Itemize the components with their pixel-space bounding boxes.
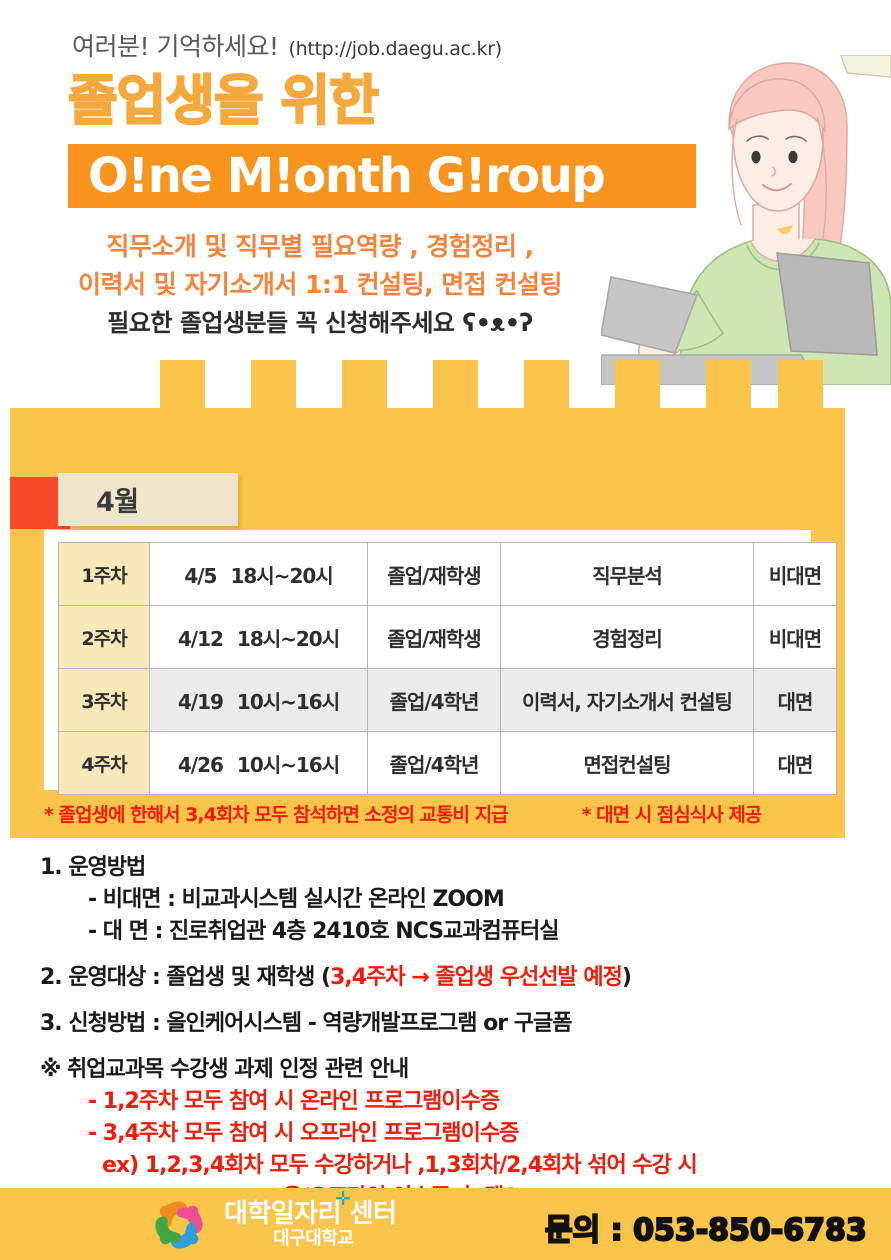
detail-item-2-suffix: ) [622,965,631,990]
cell-time: 18시~20시 [230,564,332,588]
poster-root: 여러분! 기억하세요! (http://job.daegu.ac.kr) 졸업생… [0,0,891,1260]
note-title: ※ 취업교과목 수강생 과제 인정 관련 안내 [40,1054,850,1086]
notebook-tabs-row [68,360,845,410]
site-url[interactable]: (http://job.daegu.ac.kr) [289,38,502,60]
detail-item-2-prefix: 2. 운영대상 : 졸업생 및 재학생 ( [40,965,330,990]
notebook-tab [160,360,205,410]
kicker-text: 여러분! 기억하세요! [72,27,279,63]
logo-center-name-label: 대학일자리 센터 [224,1199,397,1229]
month-tab[interactable]: 4월 [58,473,238,526]
cell-mode: 비대면 [754,606,837,669]
logo-plus-icon: ✛ [335,1190,350,1210]
detail-item-1-sub-2: - 대 면 : 진로취업관 4층 2410호 NCS교과컴퓨터실 [40,916,850,948]
cell-time: 18시~20시 [237,627,339,651]
note-sub-2: - 3,4주차 모두 참여 시 오프라인 프로그램이수증 [40,1118,850,1150]
detail-item-2-highlight: 3,4주차 → 졸업생 우선선발 예정 [330,965,622,990]
subtitle-block: 직무소개 및 직무별 필요역량 , 경험정리 , 이력서 및 자기소개서 1:1… [0,228,640,342]
table-row: 4주차 4/2610시~16시 졸업/4학년 면접컨설팅 대면 [59,732,837,795]
table-row: 3주차 4/1910시~16시 졸업/4학년 이력서, 자기소개서 컨설팅 대면 [59,669,837,732]
woman-with-laptop-illustration [601,55,891,385]
cell-target: 졸업/4학년 [368,732,501,795]
cell-date: 4/12 [178,627,223,651]
logo-center-name: 대학일자리 센터 ✛ [224,1201,397,1228]
title-korean: 졸업생을 위한 [68,74,378,128]
cell-time: 10시~16시 [237,753,339,777]
cell-target: 졸업/재학생 [368,543,501,606]
note-example-1: ex) 1,2,3,4회차 모두 수강하거나 ,1,3회차/2,4회차 섞어 수… [40,1150,850,1182]
notebook-tab [251,360,296,410]
logo-block: 대학일자리 센터 ✛ 대구대학교 [148,1194,397,1256]
cell-date: 4/19 [178,690,223,714]
subtitle-line-1: 직무소개 및 직무별 필요역량 , 경험정리 , [0,228,640,266]
cell-mode: 대면 [754,732,837,795]
table-row: 2주차 4/1218시~20시 졸업/재학생 경험정리 비대면 [59,606,837,669]
notebook-tab [706,360,751,410]
spacer [40,994,850,1008]
logo-text-block: 대학일자리 센터 ✛ 대구대학교 [224,1201,397,1249]
notice-row: * 졸업생에 한해서 3,4회차 모두 참석하면 소정의 교통비 지급 * 대면… [44,800,834,827]
jobcenter-pinwheel-logo-icon [148,1194,210,1256]
spacer [40,948,850,962]
cell-datetime: 4/1218시~20시 [150,606,368,669]
note-sub-1: - 1,2주차 모두 참여 시 온라인 프로그램이수증 [40,1086,850,1118]
title-english: O!ne M!onth G!roup [88,149,604,203]
cell-datetime: 4/518시~20시 [150,543,368,606]
cell-week: 1주차 [59,543,150,606]
notice-transport: * 졸업생에 한해서 3,4회차 모두 참석하면 소정의 교통비 지급 [44,800,508,827]
kicker-line: 여러분! 기억하세요! (http://job.daegu.ac.kr) [72,27,502,63]
subtitle-line-3: 필요한 졸업생분들 꼭 신청해주세요 ʕ•ᴥ•ʔ [0,304,640,342]
cell-target: 졸업/4학년 [368,669,501,732]
cell-week: 2주차 [59,606,150,669]
notebook-tab [433,360,478,410]
notebook-tab [778,360,823,410]
notebook-tab [524,360,569,410]
details-block: 1. 운영방법 - 비대면 : 비교과시스템 실시간 온라인 ZOOM - 대 … [40,852,850,1214]
table-row: 1주차 4/518시~20시 졸업/재학생 직무분석 비대면 [59,543,837,606]
spacer [40,1040,850,1054]
detail-item-2: 2. 운영대상 : 졸업생 및 재학생 (3,4주차 → 졸업생 우선선발 예정… [40,962,850,994]
cell-topic: 직무분석 [501,543,754,606]
cell-mode: 비대면 [754,543,837,606]
cell-mode: 대면 [754,669,837,732]
cell-time: 10시~16시 [237,690,339,714]
cell-date: 4/26 [178,753,223,777]
detail-item-1-title: 1. 운영방법 [40,852,850,884]
cell-target: 졸업/재학생 [368,606,501,669]
cell-datetime: 4/1910시~16시 [150,669,368,732]
subtitle-line-2: 이력서 및 자기소개서 1:1 컨설팅, 면접 컨설팅 [0,266,640,304]
notebook-tab [342,360,387,410]
detail-item-1-sub-1: - 비대면 : 비교과시스템 실시간 온라인 ZOOM [40,884,850,916]
notebook-tab [615,360,660,410]
month-tab-label: 4월 [96,480,139,519]
cell-topic: 면접컨설팅 [501,732,754,795]
cell-week: 4주차 [59,732,150,795]
cell-date: 4/5 [184,564,216,588]
schedule-table: 1주차 4/518시~20시 졸업/재학생 직무분석 비대면 2주차 4/121… [58,542,837,795]
cell-topic: 경험정리 [501,606,754,669]
detail-item-3: 3. 신청방법 : 올인케어시스템 - 역량개발프로그램 or 구글폼 [40,1008,850,1040]
logo-university-name: 대구대학교 [224,1230,397,1249]
cell-topic: 이력서, 자기소개서 컨설팅 [501,669,754,732]
notice-lunch: * 대면 시 점심식사 제공 [582,800,762,827]
contact-phone[interactable]: 문의 : 053-850-6783 [545,1205,867,1249]
cell-datetime: 4/2610시~16시 [150,732,368,795]
cell-week: 3주차 [59,669,150,732]
